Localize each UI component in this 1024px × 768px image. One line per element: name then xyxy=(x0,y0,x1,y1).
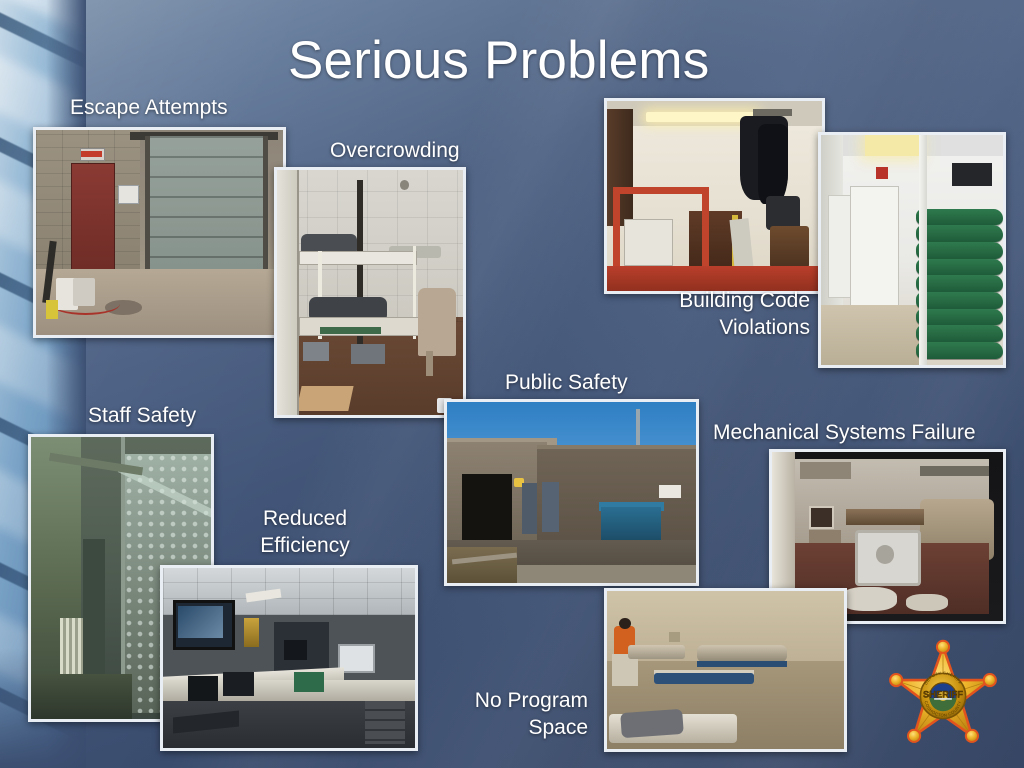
star-tip-ball xyxy=(908,730,920,742)
page-title: Serious Problems xyxy=(288,30,709,91)
star-tip-ball xyxy=(890,674,902,686)
caption-reduced-efficiency: Reduced Efficiency xyxy=(239,505,371,559)
caption-line-1: Building Code xyxy=(598,287,810,314)
cots-room-photo xyxy=(604,588,847,752)
dispatch-room-photo xyxy=(160,565,418,751)
star-tip-ball xyxy=(937,641,949,653)
caption-line-1: Reduced xyxy=(239,505,371,532)
star-tip-ball xyxy=(966,730,978,742)
badge-sheriff-text: SHERIFF xyxy=(923,689,963,699)
caption-line-2: Efficiency xyxy=(239,532,371,559)
caption-mechanical-systems-failure: Mechanical Systems Failure xyxy=(713,419,976,446)
sheriff-star-badge-logo: DEPUTY SHERIFF COSHOCTON COUNTY SHERIFF xyxy=(884,637,1002,755)
sheriff-star-icon: DEPUTY SHERIFF COSHOCTON COUNTY SHERIFF xyxy=(884,637,1002,755)
building-exterior-photo xyxy=(444,399,699,586)
jail-cell-photo xyxy=(274,167,466,418)
caption-public-safety: Public Safety xyxy=(505,369,628,396)
caption-escape-attempts: Escape Attempts xyxy=(70,94,228,121)
slide-canvas: Serious Problems xyxy=(0,0,1024,768)
caption-overcrowding: Overcrowding xyxy=(330,137,460,164)
mattress-stack-photo xyxy=(818,132,1006,368)
garage-bay-photo xyxy=(33,127,286,338)
caption-line-2: Space xyxy=(440,714,588,741)
caption-no-program-space: No Program Space xyxy=(440,687,588,741)
caption-line-1: No Program xyxy=(440,687,588,714)
star-tip-ball xyxy=(984,674,996,686)
caption-line-2: Violations xyxy=(598,314,810,341)
caption-staff-safety: Staff Safety xyxy=(88,402,196,429)
storage-room-photo xyxy=(604,98,825,294)
caption-building-code-violations: Building Code Violations xyxy=(598,287,810,341)
